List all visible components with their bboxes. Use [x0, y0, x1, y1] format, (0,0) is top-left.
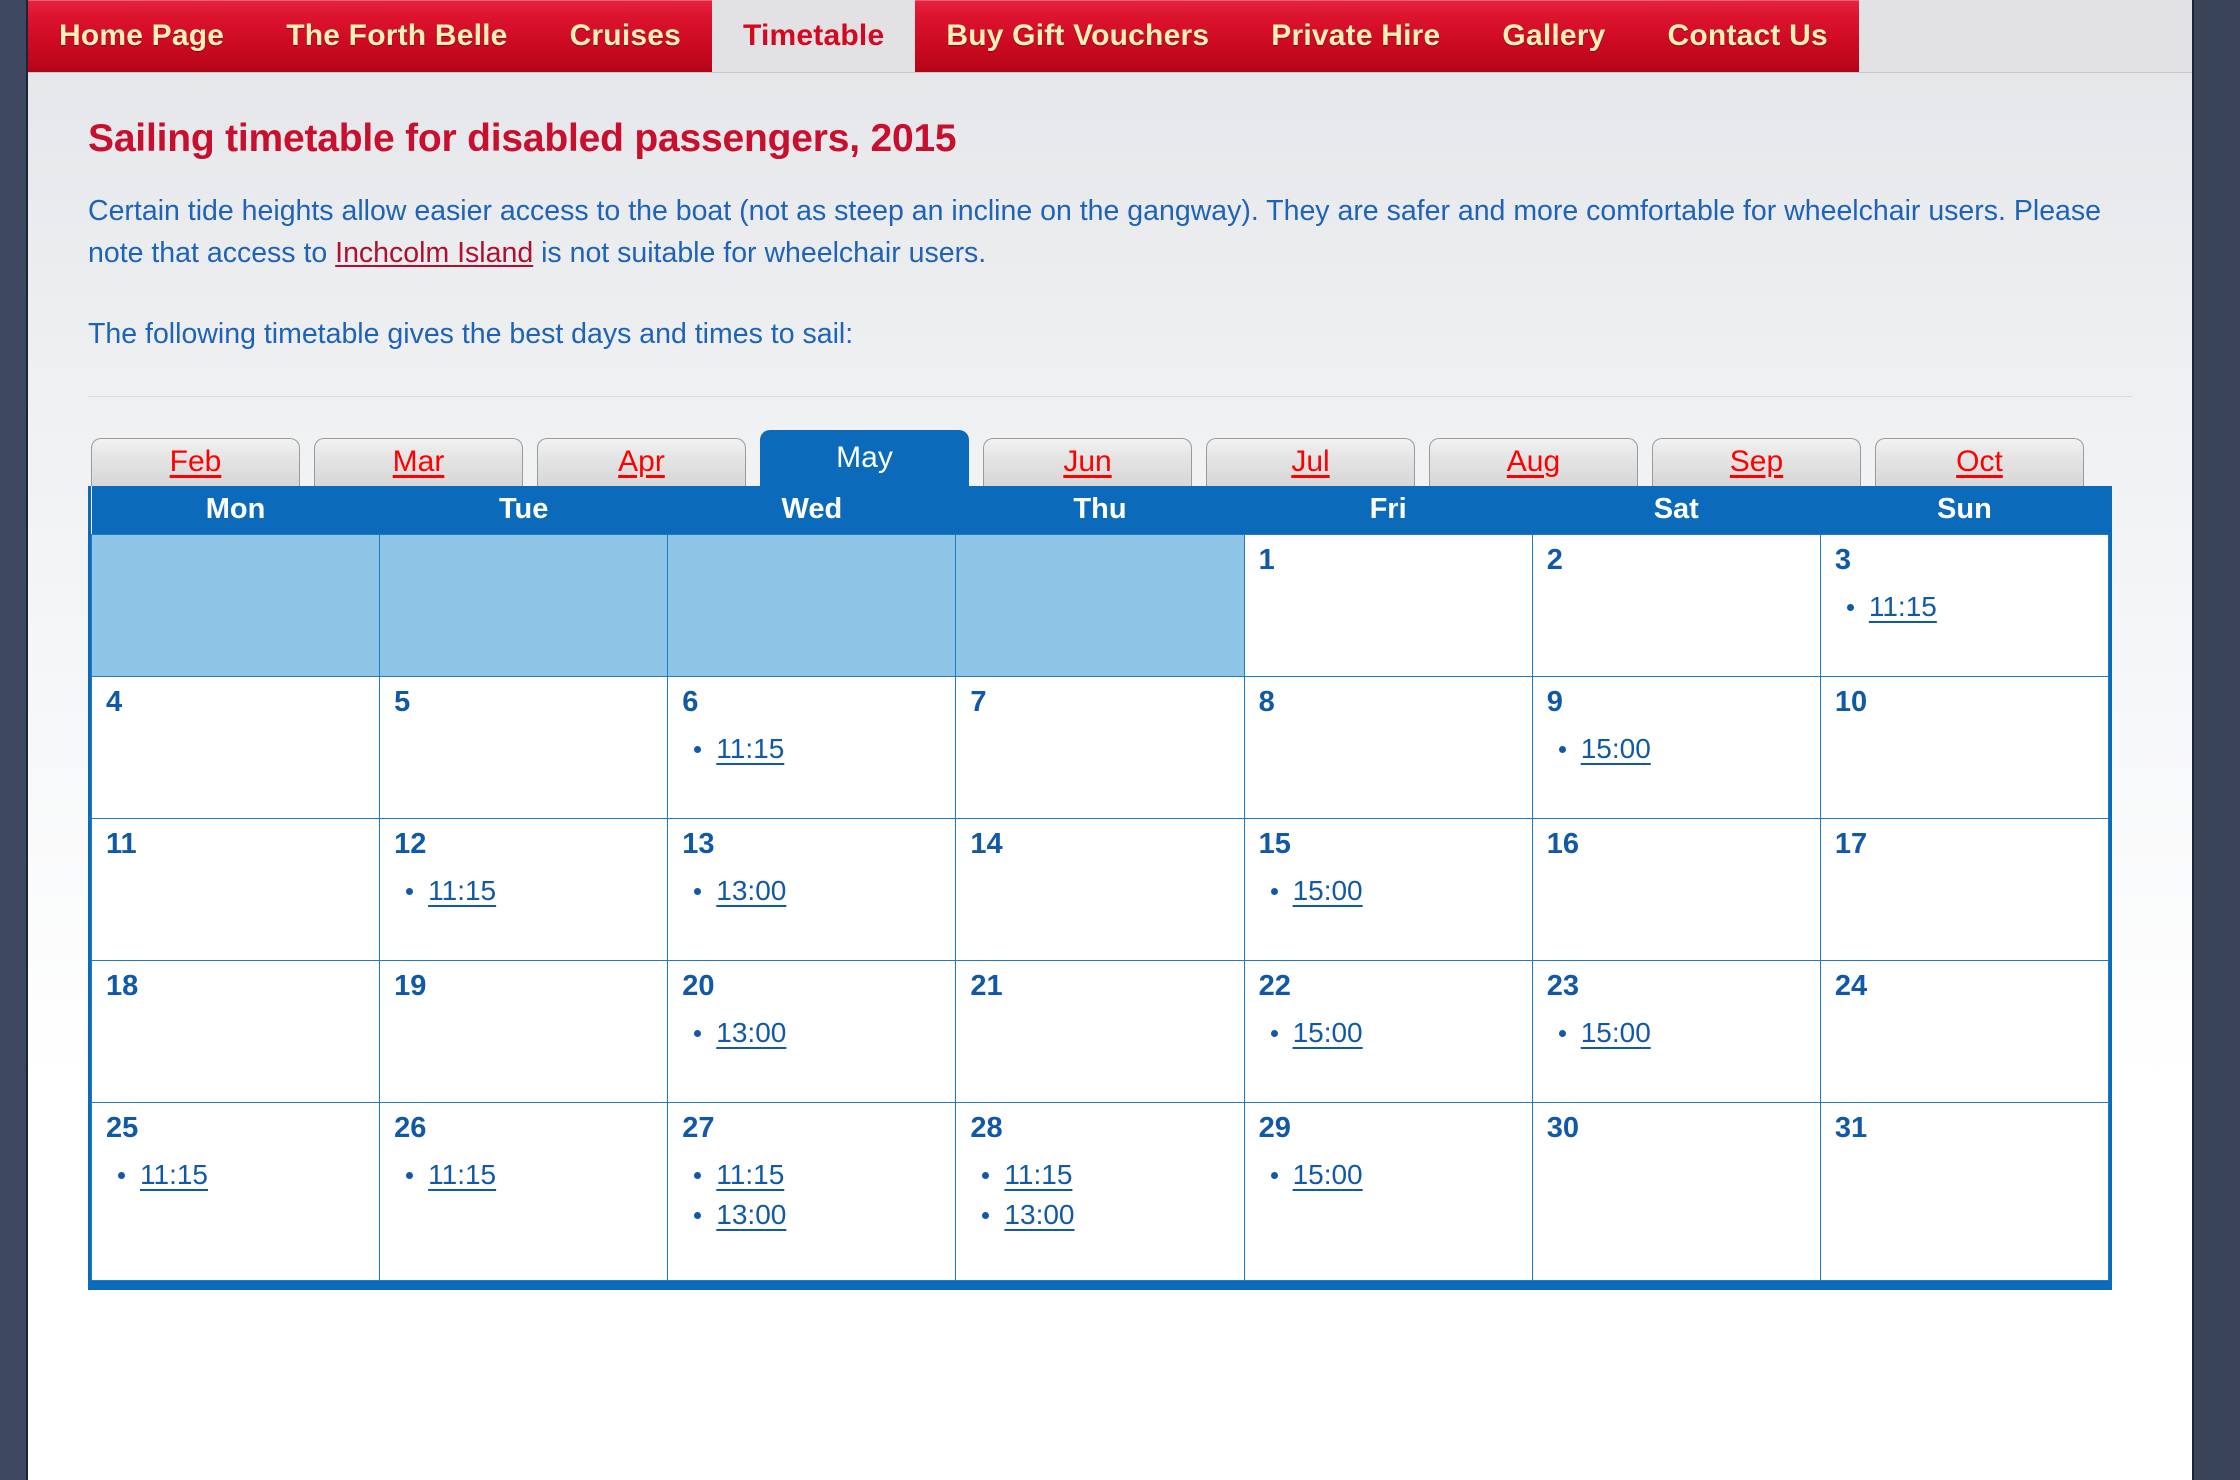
calendar-day-number: 16: [1547, 829, 1806, 859]
sailing-time-list: 13:00: [682, 877, 941, 905]
timetable-lead-paragraph: The following timetable gives the best d…: [88, 314, 2108, 356]
intro-text-part2: is not suitable for wheelchair users.: [533, 237, 986, 269]
calendar-day-number: 19: [394, 971, 653, 1001]
calendar-widget: MonTueWedThuFriSatSun 12311:1545611:1578…: [88, 486, 2112, 1290]
sailing-time-item: 15:00: [1293, 1019, 1518, 1047]
calendar-cell-day-26: 2611:15: [380, 1102, 668, 1280]
sailing-time-link[interactable]: 11:15: [428, 1159, 496, 1190]
calendar-cell-day-9: 915:00: [1532, 676, 1820, 818]
month-tab-may[interactable]: May: [760, 430, 969, 486]
calendar-cell-day-11: 11: [92, 818, 380, 960]
sailing-time-item: 13:00: [716, 1201, 941, 1229]
calendar-cell-day-31: 31: [1820, 1102, 2108, 1280]
sailing-time-list: 11:15: [682, 735, 941, 763]
calendar-day-number: 20: [682, 971, 941, 1001]
sailing-time-link[interactable]: 15:00: [1293, 1017, 1363, 1048]
calendar-cell-day-18: 18: [92, 960, 380, 1102]
calendar-cell-day-20: 2013:00: [668, 960, 956, 1102]
month-tab-label: Sep: [1730, 445, 1783, 479]
calendar-day-number: 6: [682, 687, 941, 717]
section-divider: [88, 396, 2132, 397]
calendar-day-number: 10: [1835, 687, 2094, 717]
calendar-cell-day-1: 1: [1244, 534, 1532, 676]
sailing-time-list: 15:00: [1547, 1019, 1806, 1047]
sailing-time-item: 11:15: [716, 1161, 941, 1189]
month-tab-label: May: [836, 441, 893, 475]
calendar-week-row: 111211:151313:00141515:001617: [92, 818, 2109, 960]
calendar-cell-day-23: 2315:00: [1532, 960, 1820, 1102]
month-tab-label: Mar: [393, 445, 445, 479]
calendar-cell-day-4: 4: [92, 676, 380, 818]
nav-item-gallery[interactable]: Gallery: [1471, 0, 1636, 72]
nav-group-right: Buy Gift VouchersPrivate HireGalleryCont…: [915, 0, 1859, 72]
sailing-time-item: 11:15: [140, 1161, 365, 1189]
calendar-day-number: 8: [1259, 687, 1518, 717]
sailing-time-link[interactable]: 11:15: [1004, 1159, 1072, 1190]
page-container: Home PageThe Forth BelleCruises Timetabl…: [28, 0, 2192, 1480]
calendar-week-row: 2511:152611:152711:1513:002811:1513:0029…: [92, 1102, 2109, 1280]
month-tab-bar: FebMarAprMayJunJulAugSepOct: [88, 436, 2132, 486]
calendar-cell-day-24: 24: [1820, 960, 2108, 1102]
calendar-day-number: 15: [1259, 829, 1518, 859]
calendar-day-number: 25: [106, 1113, 365, 1143]
calendar-cell-day-30: 30: [1532, 1102, 1820, 1280]
calendar-cell-day-15: 1515:00: [1244, 818, 1532, 960]
nav-group-left: Home PageThe Forth BelleCruises: [28, 0, 712, 72]
calendar-day-number: 18: [106, 971, 365, 1001]
sailing-time-list: 11:15: [106, 1161, 365, 1189]
calendar-day-number: 5: [394, 687, 653, 717]
calendar-cell-empty: [380, 534, 668, 676]
calendar-cell-day-2: 2: [1532, 534, 1820, 676]
sailing-time-list: 11:15: [394, 1161, 653, 1189]
sailing-time-item: 11:15: [1869, 593, 2094, 621]
intro-paragraph: Certain tide heights allow easier access…: [88, 191, 2108, 274]
nav-item-buy-gift-vouchers[interactable]: Buy Gift Vouchers: [915, 0, 1240, 72]
calendar-cell-day-12: 1211:15: [380, 818, 668, 960]
calendar-day-header-mon: Mon: [92, 486, 380, 535]
calendar-cell-empty: [668, 534, 956, 676]
calendar-cell-day-3: 311:15: [1820, 534, 2108, 676]
sailing-time-list: 15:00: [1259, 1161, 1518, 1189]
calendar-day-number: 17: [1835, 829, 2094, 859]
calendar-cell-day-29: 2915:00: [1244, 1102, 1532, 1280]
sailing-time-link[interactable]: 13:00: [716, 1017, 786, 1048]
calendar-day-number: 12: [394, 829, 653, 859]
sailing-time-link[interactable]: 11:15: [140, 1159, 208, 1190]
month-tab-sep[interactable]: Sep: [1652, 438, 1861, 486]
calendar-day-number: 27: [682, 1113, 941, 1143]
sailing-time-link[interactable]: 13:00: [716, 875, 786, 906]
sailing-time-list: 15:00: [1547, 735, 1806, 763]
sailing-time-link[interactable]: 13:00: [716, 1199, 786, 1230]
calendar-cell-empty: [956, 534, 1244, 676]
sailing-time-link[interactable]: 13:00: [1004, 1199, 1074, 1230]
calendar-cell-day-13: 1313:00: [668, 818, 956, 960]
calendar-day-number: 23: [1547, 971, 1806, 1001]
calendar-day-number: 22: [1259, 971, 1518, 1001]
sailing-time-item: 11:15: [428, 1161, 653, 1189]
sailing-time-link[interactable]: 11:15: [1869, 591, 1937, 622]
calendar-day-number: 28: [970, 1113, 1229, 1143]
calendar-day-number: 1: [1259, 545, 1518, 575]
month-tab-label: Oct: [1956, 445, 2003, 479]
calendar-day-number: 4: [106, 687, 365, 717]
month-tab-label: Aug: [1507, 445, 1560, 479]
calendar-day-header-sat: Sat: [1532, 486, 1820, 535]
calendar-cell-day-10: 10: [1820, 676, 2108, 818]
sailing-time-item: 11:15: [428, 877, 653, 905]
calendar-cell-empty: [92, 534, 380, 676]
calendar-day-number: 21: [970, 971, 1229, 1001]
month-tab-jun[interactable]: Jun: [983, 438, 1192, 486]
main-content: Sailing timetable for disabled passenger…: [28, 73, 2192, 1480]
calendar-week-row: 12311:15: [92, 534, 2109, 676]
page-title: Sailing timetable for disabled passenger…: [88, 73, 2132, 161]
month-tab-oct[interactable]: Oct: [1875, 438, 2084, 486]
sailing-time-link[interactable]: 15:00: [1293, 875, 1363, 906]
sailing-time-item: 15:00: [1581, 735, 1806, 763]
calendar-cell-day-7: 7: [956, 676, 1244, 818]
calendar-day-number: 3: [1835, 545, 2094, 575]
main-navigation: Home PageThe Forth BelleCruises Timetabl…: [28, 0, 2192, 73]
nav-item-contact-us[interactable]: Contact Us: [1637, 0, 1859, 72]
month-tab-feb[interactable]: Feb: [91, 438, 300, 486]
month-tab-label: Feb: [170, 445, 222, 479]
calendar-day-number: 26: [394, 1113, 653, 1143]
calendar-day-number: 7: [970, 687, 1229, 717]
nav-item-cruises[interactable]: Cruises: [539, 0, 712, 72]
month-tab-label: Apr: [618, 445, 665, 479]
calendar-day-header-sun: Sun: [1820, 486, 2108, 535]
sailing-time-item: 15:00: [1293, 1161, 1518, 1189]
inchcolm-island-link[interactable]: Inchcolm Island: [335, 237, 533, 269]
calendar-day-header-thu: Thu: [956, 486, 1244, 535]
calendar-cell-day-27: 2711:1513:00: [668, 1102, 956, 1280]
calendar-cell-day-6: 611:15: [668, 676, 956, 818]
calendar-cell-day-21: 21: [956, 960, 1244, 1102]
calendar-table: MonTueWedThuFriSatSun 12311:1545611:1578…: [91, 486, 2109, 1281]
calendar-day-number: 30: [1547, 1113, 1806, 1143]
calendar-day-number: 14: [970, 829, 1229, 859]
sailing-time-list: 11:1513:00: [682, 1161, 941, 1229]
month-tab-label: Jul: [1291, 445, 1329, 479]
sailing-time-link[interactable]: 11:15: [716, 1159, 784, 1190]
sailing-time-list: 13:00: [682, 1019, 941, 1047]
sailing-time-item: 15:00: [1293, 877, 1518, 905]
calendar-day-number: 29: [1259, 1113, 1518, 1143]
sailing-time-item: 13:00: [716, 877, 941, 905]
calendar-cell-day-8: 8: [1244, 676, 1532, 818]
nav-item-the-forth-belle[interactable]: The Forth Belle: [255, 0, 538, 72]
sailing-time-link[interactable]: 15:00: [1293, 1159, 1363, 1190]
calendar-cell-day-19: 19: [380, 960, 668, 1102]
sailing-time-list: 15:00: [1259, 1019, 1518, 1047]
month-tab-mar[interactable]: Mar: [314, 438, 523, 486]
sailing-time-list: 11:1513:00: [970, 1161, 1229, 1229]
calendar-cell-day-22: 2215:00: [1244, 960, 1532, 1102]
calendar-day-number: 31: [1835, 1113, 2094, 1143]
calendar-cell-day-16: 16: [1532, 818, 1820, 960]
calendar-header-row: MonTueWedThuFriSatSun: [92, 486, 2109, 535]
calendar-week-row: 45611:1578915:0010: [92, 676, 2109, 818]
sailing-time-link[interactable]: 15:00: [1581, 733, 1651, 764]
calendar-body: 12311:1545611:1578915:0010111211:151313:…: [92, 534, 2109, 1280]
calendar-cell-day-25: 2511:15: [92, 1102, 380, 1280]
calendar-day-number: 13: [682, 829, 941, 859]
sailing-time-item: 15:00: [1581, 1019, 1806, 1047]
calendar-cell-day-5: 5: [380, 676, 668, 818]
calendar-day-header-tue: Tue: [380, 486, 668, 535]
calendar-day-header-wed: Wed: [668, 486, 956, 535]
month-tab-jul[interactable]: Jul: [1206, 438, 1415, 486]
sailing-time-list: 15:00: [1259, 877, 1518, 905]
sailing-time-list: 11:15: [1835, 593, 2094, 621]
sailing-time-item: 11:15: [1004, 1161, 1229, 1189]
calendar-week-row: 18192013:00212215:002315:0024: [92, 960, 2109, 1102]
sailing-time-item: 11:15: [716, 735, 941, 763]
calendar-day-number: 2: [1547, 545, 1806, 575]
nav-item-home-page[interactable]: Home Page: [28, 0, 255, 72]
calendar-day-number: 24: [1835, 971, 2094, 1001]
calendar-cell-day-14: 14: [956, 818, 1244, 960]
nav-item-private-hire[interactable]: Private Hire: [1240, 0, 1471, 72]
sailing-time-item: 13:00: [1004, 1201, 1229, 1229]
sailing-time-link[interactable]: 11:15: [716, 733, 784, 764]
calendar-cell-day-17: 17: [1820, 818, 2108, 960]
month-tab-apr[interactable]: Apr: [537, 438, 746, 486]
window-frame: Home PageThe Forth BelleCruises Timetabl…: [0, 0, 2240, 1480]
calendar-day-number: 9: [1547, 687, 1806, 717]
calendar-day-header-fri: Fri: [1244, 486, 1532, 535]
month-tab-aug[interactable]: Aug: [1429, 438, 1638, 486]
sailing-time-link[interactable]: 15:00: [1581, 1017, 1651, 1048]
nav-item-timetable[interactable]: Timetable: [712, 0, 915, 72]
sailing-time-item: 13:00: [716, 1019, 941, 1047]
sailing-time-link[interactable]: 11:15: [428, 875, 496, 906]
month-tab-label: Jun: [1063, 445, 1111, 479]
sailing-time-list: 11:15: [394, 877, 653, 905]
calendar-day-number: 11: [106, 829, 365, 859]
calendar-cell-day-28: 2811:1513:00: [956, 1102, 1244, 1280]
